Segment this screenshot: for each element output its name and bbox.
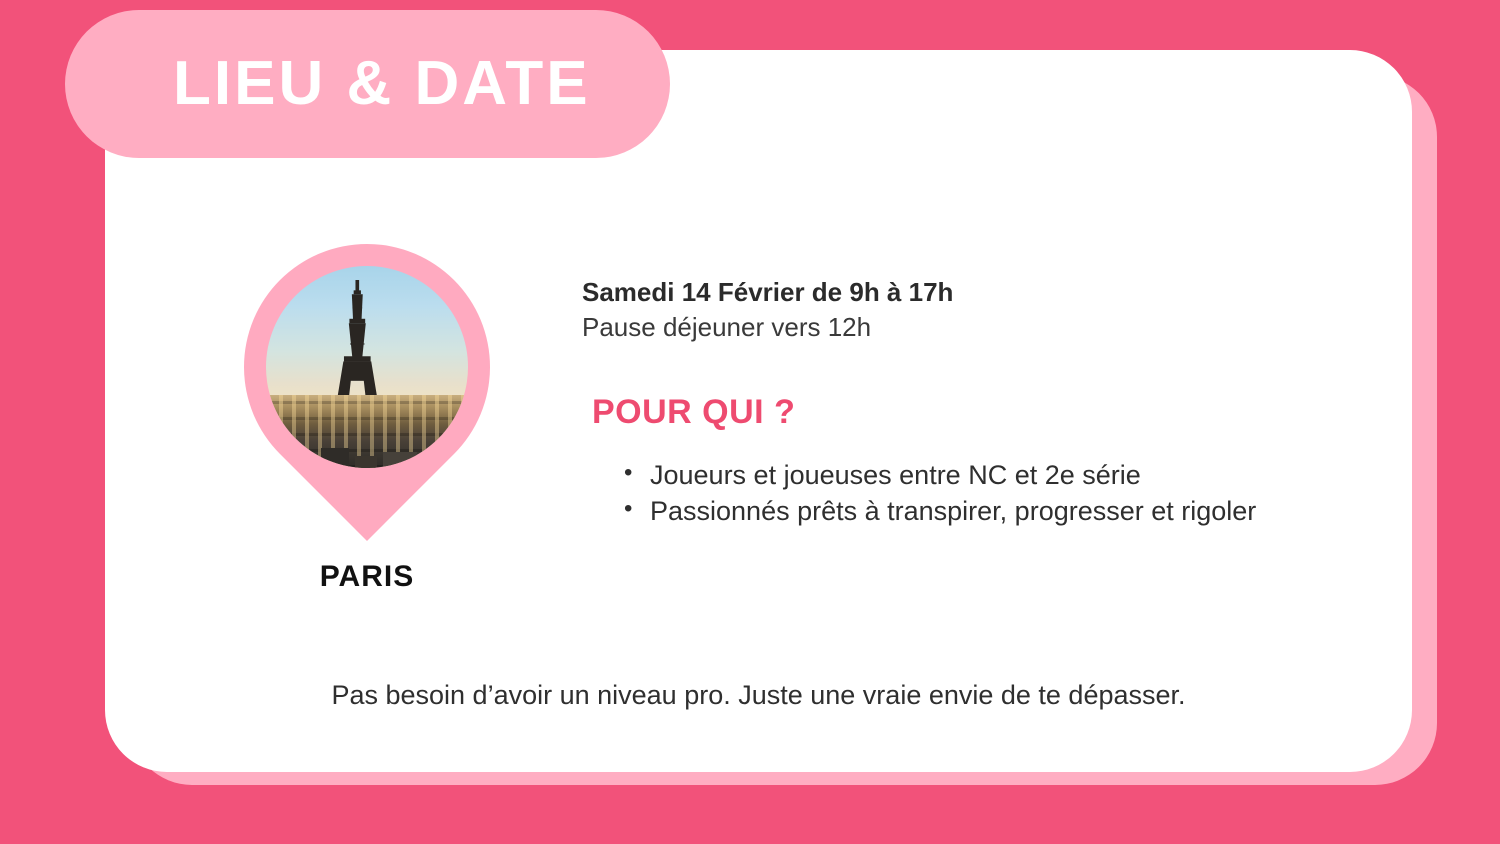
- eiffel-tower-icon: [327, 280, 388, 409]
- list-item: Passionnés prêts à transpirer, progresse…: [624, 494, 1372, 530]
- section-title: LIEU & DATE: [173, 53, 591, 115]
- audience-heading: POUR QUI ?: [592, 393, 1372, 432]
- city-label: PARIS: [228, 560, 506, 594]
- lunch-break: Pause déjeuner vers 12h: [582, 310, 1372, 345]
- building: [355, 456, 377, 468]
- building: [424, 455, 456, 468]
- slide-canvas: LIEU & DATE: [0, 0, 1500, 844]
- audience-list: Joueurs et joueuses entre NC et 2e série…: [624, 458, 1372, 530]
- list-item: Joueurs et joueuses entre NC et 2e série: [624, 458, 1372, 494]
- event-date: Samedi 14 Février de 9h à 17h: [582, 275, 1372, 310]
- cityscape: [266, 395, 468, 468]
- building: [278, 453, 314, 468]
- paris-photo: [266, 266, 468, 468]
- details-block: Samedi 14 Février de 9h à 17h Pause déje…: [582, 275, 1372, 530]
- section-badge: LIEU & DATE: [65, 10, 670, 158]
- map-pin-icon: [244, 244, 490, 536]
- building: [383, 452, 417, 468]
- footer-note: Pas besoin d’avoir un niveau pro. Juste …: [105, 680, 1412, 711]
- building: [321, 448, 349, 468]
- location-block: PARIS: [228, 244, 506, 594]
